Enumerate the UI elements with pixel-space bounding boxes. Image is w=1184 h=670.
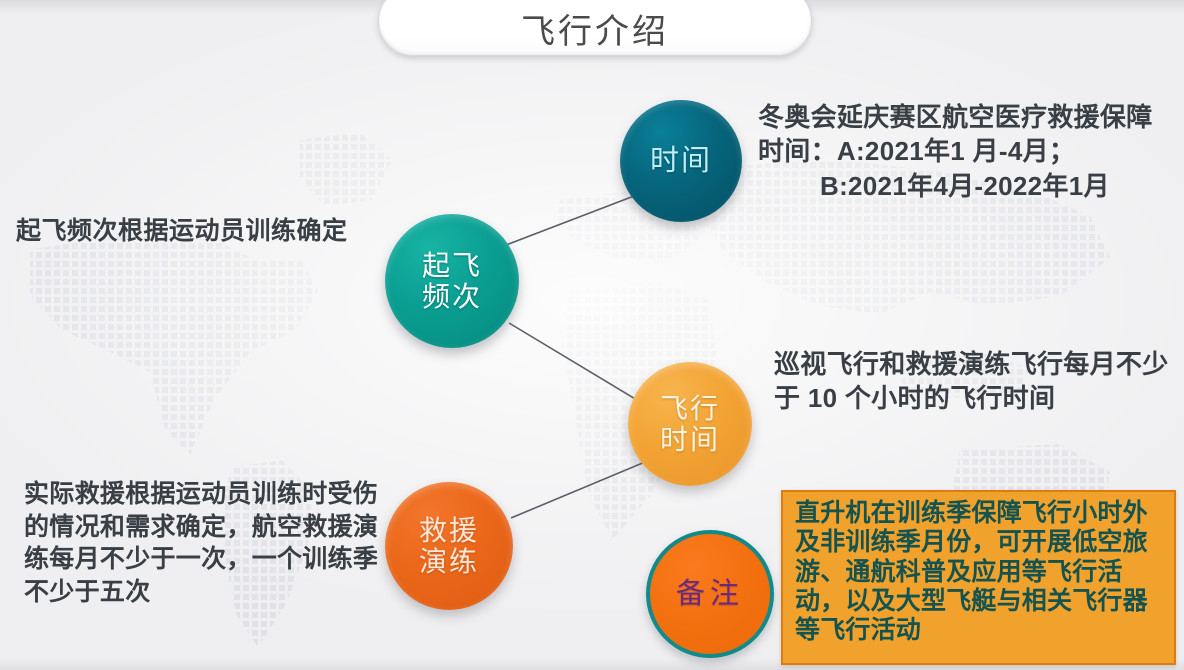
slide-title-banner: 飞行介绍	[378, 0, 812, 56]
node-takeoff-frequency[interactable]: 起飞 频次	[385, 214, 519, 348]
node-remark[interactable]: 备注	[646, 530, 774, 658]
node-time-label: 时间	[650, 145, 712, 177]
annotation-takeoff-frequency: 起飞频次根据运动员训练确定	[16, 216, 396, 247]
remark-box-text: 直升机在训练季保障飞行小时外及非训练季月份，可开展低空旅游、通航科普及应用等飞行…	[795, 499, 1164, 645]
node-takeoff-frequency-label-line2: 频次	[422, 281, 482, 312]
annotation-flight-time: 巡视飞行和救援演练飞行每月不少于 10 个小时的飞行时间	[774, 348, 1184, 416]
annotation-rescue-drill: 实际救援根据运动员训练时受伤的情况和需求确定，航空救援演练每月不少于一次，一个训…	[24, 478, 384, 608]
connector-freq-to-time	[506, 196, 634, 245]
connector-freq-to-flytime	[509, 323, 637, 400]
slide-canvas: 飞行介绍 时间 起飞 频次 飞行 时间 救援 演练 备注 起飞频次根据运动员训练…	[0, 0, 1184, 670]
node-flight-time[interactable]: 飞行 时间	[628, 362, 752, 486]
node-rescue-drill[interactable]: 救援 演练	[385, 482, 513, 610]
node-flight-time-label-line2: 时间	[660, 424, 720, 455]
annotation-time-line1: 冬奥会延庆赛区航空医疗救援保障	[758, 102, 1153, 132]
connector-drill-to-flytime	[511, 462, 645, 518]
annotation-time-line3: B:2021年4月-2022年1月	[758, 169, 1182, 203]
node-rescue-drill-label-line2: 演练	[419, 546, 479, 577]
node-takeoff-frequency-label-line1: 起飞	[422, 250, 482, 281]
node-time[interactable]: 时间	[620, 100, 742, 222]
annotation-time-line2: 时间：A:2021年1 月-4月；	[758, 136, 1075, 166]
page-title: 飞行介绍	[521, 15, 669, 51]
annotation-time: 冬奥会延庆赛区航空医疗救援保障 时间：A:2021年1 月-4月； B:2021…	[758, 100, 1182, 203]
node-remark-label: 备注	[676, 578, 744, 610]
remark-box: 直升机在训练季保障飞行小时外及非训练季月份，可开展低空旅游、通航科普及应用等飞行…	[781, 490, 1176, 665]
node-flight-time-label-line1: 飞行	[660, 393, 720, 424]
node-rescue-drill-label-line1: 救援	[419, 515, 479, 546]
